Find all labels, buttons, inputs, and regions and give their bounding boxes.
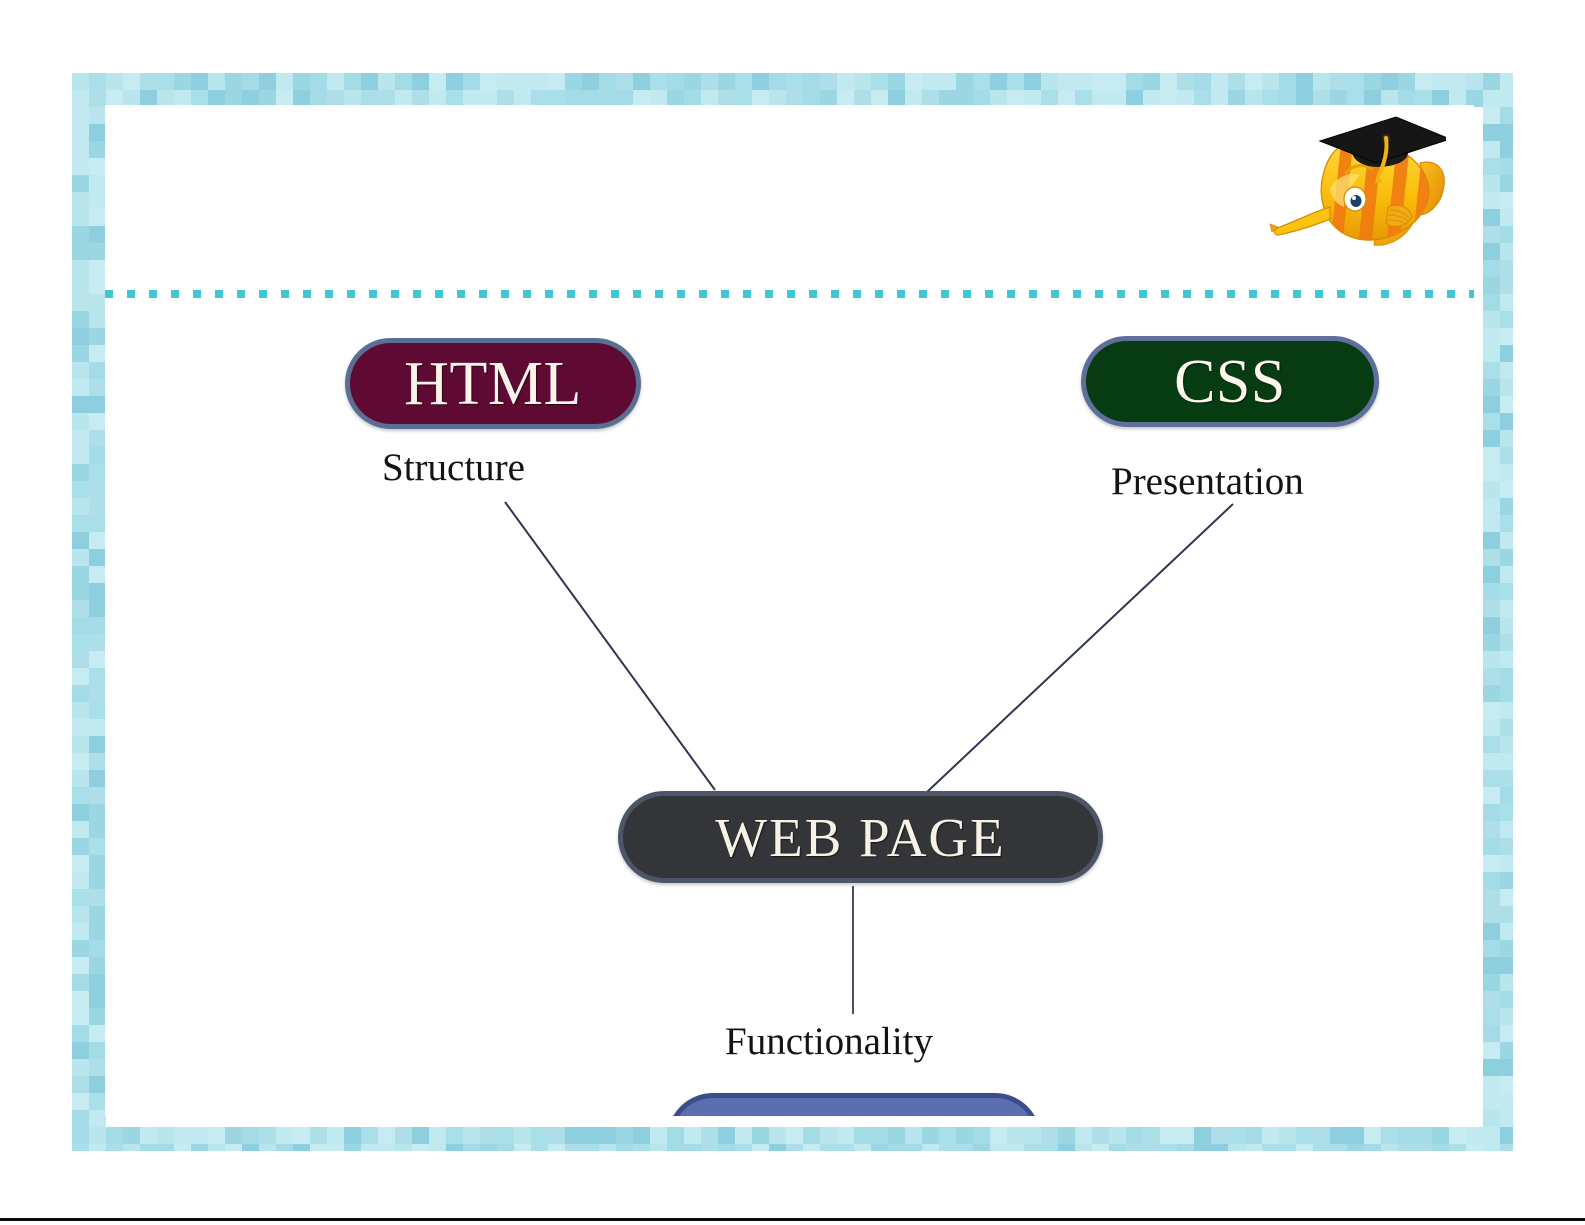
mosaic-tile — [973, 73, 990, 90]
mosaic-tile — [854, 73, 871, 90]
mosaic-tile — [1500, 73, 1513, 90]
mosaic-tile — [1279, 1144, 1296, 1151]
mosaic-tile — [633, 73, 650, 90]
mosaic-tile — [820, 1127, 837, 1144]
mosaic-tile — [1483, 90, 1500, 107]
mosaic-tile — [89, 396, 106, 413]
mosaic-tile — [1262, 1127, 1279, 1144]
mosaic-tile — [72, 736, 89, 753]
mosaic-tile — [1483, 549, 1500, 566]
mosaic-tile — [208, 73, 225, 90]
mosaic-tile — [89, 345, 106, 362]
mosaic-tile — [1483, 651, 1500, 668]
mosaic-tile — [123, 1144, 140, 1151]
mosaic-tile — [72, 1076, 89, 1093]
mosaic-tile — [769, 73, 786, 90]
mosaic-tile — [837, 1144, 854, 1151]
mosaic-tile — [1398, 1127, 1415, 1144]
mosaic-tile — [1500, 770, 1513, 787]
mosaic-tile — [1483, 260, 1500, 277]
mosaic-tile — [1500, 838, 1513, 855]
mosaic-tile — [89, 923, 106, 940]
mosaic-tile — [1500, 532, 1513, 549]
mosaic-tile — [1483, 515, 1500, 532]
mosaic-tile — [803, 1127, 820, 1144]
mosaic-tile — [514, 1144, 531, 1151]
mosaic-tile — [1262, 1144, 1279, 1151]
mosaic-tile — [786, 1127, 803, 1144]
mosaic-tile — [735, 73, 752, 90]
mosaic-tile — [1500, 1144, 1513, 1151]
mosaic-tile — [701, 1127, 718, 1144]
mosaic-tile — [1483, 1144, 1500, 1151]
mosaic-tile — [72, 294, 89, 311]
mosaic-tile — [1143, 73, 1160, 90]
mosaic-tile — [191, 1127, 208, 1144]
mosaic-tile — [89, 889, 106, 906]
mosaic-tile — [1483, 957, 1500, 974]
mosaic-tile — [208, 1144, 225, 1151]
mosaic-tile — [786, 73, 803, 90]
mosaic-tile — [72, 464, 89, 481]
mosaic-tile — [1398, 73, 1415, 90]
mosaic-tile — [1500, 90, 1513, 107]
mosaic-tile — [1483, 294, 1500, 311]
node-css[interactable]: CSS — [1081, 336, 1379, 427]
node-web-page-label: WEB PAGE — [715, 810, 1006, 865]
mosaic-tile — [820, 73, 837, 90]
mosaic-tile — [1194, 73, 1211, 90]
mosaic-tile — [429, 73, 446, 90]
mosaic-tile — [72, 209, 89, 226]
mosaic-tile — [1500, 328, 1513, 345]
mosaic-tile — [1245, 73, 1262, 90]
mosaic-tile — [1483, 685, 1500, 702]
mosaic-tile — [905, 1144, 922, 1151]
mosaic-tile — [1483, 906, 1500, 923]
mosaic-tile — [89, 719, 106, 736]
mosaic-tile — [888, 1127, 905, 1144]
mosaic-tile — [1500, 821, 1513, 838]
mosaic-tile — [582, 1144, 599, 1151]
mosaic-tile — [72, 260, 89, 277]
mosaic-tile — [633, 1127, 650, 1144]
mosaic-tile — [1483, 226, 1500, 243]
mosaic-tile — [752, 73, 769, 90]
mosaic-tile — [242, 73, 259, 90]
mosaic-tile — [1177, 1127, 1194, 1144]
mosaic-tile — [1500, 1110, 1513, 1127]
mosaic-tile — [1483, 481, 1500, 498]
mosaic-tile — [1466, 73, 1483, 90]
mosaic-tile — [565, 1144, 582, 1151]
mosaic-tile — [1500, 226, 1513, 243]
mosaic-tile — [429, 1144, 446, 1151]
mosaic-tile — [276, 1144, 293, 1151]
mosaic-tile — [89, 1076, 106, 1093]
mosaic-tile — [1347, 1144, 1364, 1151]
mosaic-tile — [939, 1144, 956, 1151]
mosaic-tile — [1483, 872, 1500, 889]
mosaic-tile — [89, 549, 106, 566]
mosaic-tile — [735, 1127, 752, 1144]
mosaic-tile — [72, 362, 89, 379]
mosaic-tile — [1483, 396, 1500, 413]
mosaic-tile — [89, 1008, 106, 1025]
mosaic-tile — [1483, 1042, 1500, 1059]
mosaic-tile — [1483, 532, 1500, 549]
mosaic-tile — [72, 1025, 89, 1042]
mosaic-tile — [72, 379, 89, 396]
mosaic-tile — [1364, 73, 1381, 90]
mosaic-tile — [72, 685, 89, 702]
mosaic-tile — [242, 1144, 259, 1151]
mosaic-tile — [922, 1144, 939, 1151]
mosaic-tile — [89, 1144, 106, 1151]
mosaic-tile — [888, 73, 905, 90]
mosaic-tile — [837, 73, 854, 90]
mosaic-tile — [89, 226, 106, 243]
mosaic-tile — [548, 1144, 565, 1151]
mosaic-tile — [1483, 787, 1500, 804]
mosaic-tile — [1177, 1144, 1194, 1151]
mosaic-tile — [89, 192, 106, 209]
mosaic-tile — [89, 1110, 106, 1127]
mosaic-tile — [1449, 73, 1466, 90]
connector-css-to-webpage — [927, 504, 1233, 792]
mosaic-tile — [1041, 73, 1058, 90]
mosaic-tile — [106, 1144, 123, 1151]
mosaic-tile — [72, 668, 89, 685]
mosaic-tile — [72, 770, 89, 787]
mosaic-tile — [174, 73, 191, 90]
mosaic-tile — [1500, 566, 1513, 583]
mosaic-tile — [1330, 73, 1347, 90]
mosaic-tile — [395, 73, 412, 90]
mosaic-tile — [871, 1144, 888, 1151]
mosaic-tile — [89, 600, 106, 617]
mosaic-tile — [1058, 73, 1075, 90]
mosaic-tile — [1483, 1008, 1500, 1025]
mosaic-tile — [786, 1144, 803, 1151]
mosaic-tile — [1160, 1127, 1177, 1144]
mosaic-tile — [72, 719, 89, 736]
mosaic-tile — [191, 1144, 208, 1151]
mosaic-tile — [89, 668, 106, 685]
mosaic-tile — [752, 1127, 769, 1144]
mosaic-tile — [1500, 889, 1513, 906]
mosaic-tile — [616, 1127, 633, 1144]
mosaic-tile — [72, 855, 89, 872]
mosaic-tile — [72, 311, 89, 328]
mosaic-tile — [463, 1144, 480, 1151]
mosaic-tile — [72, 600, 89, 617]
mosaic-tile — [89, 413, 106, 430]
mosaic-tile — [1500, 1093, 1513, 1110]
mosaic-tile — [1483, 362, 1500, 379]
mosaic-tile — [225, 73, 242, 90]
mosaic-tile — [1228, 1127, 1245, 1144]
mosaic-tile — [1296, 1144, 1313, 1151]
mosaic-tile — [89, 464, 106, 481]
mosaic-tile — [89, 379, 106, 396]
mosaic-tile — [123, 1127, 140, 1144]
mosaic-tile — [871, 1127, 888, 1144]
mosaic-tile — [1483, 702, 1500, 719]
mosaic-tile — [1211, 73, 1228, 90]
mosaic-tile — [1024, 73, 1041, 90]
mosaic-tile — [1500, 600, 1513, 617]
mosaic-tile — [89, 906, 106, 923]
node-web-page[interactable]: WEB PAGE — [618, 791, 1103, 883]
mosaic-tile — [310, 1144, 327, 1151]
mosaic-tile — [1483, 430, 1500, 447]
mosaic-tile — [684, 1144, 701, 1151]
mosaic-tile — [854, 1144, 871, 1151]
mosaic-tile — [72, 226, 89, 243]
mosaic-tile — [1500, 872, 1513, 889]
mosaic-tile — [89, 107, 106, 124]
mosaic-tile — [259, 73, 276, 90]
mosaic-tile — [1483, 124, 1500, 141]
mosaic-tile — [378, 1144, 395, 1151]
mosaic-tile — [1449, 1127, 1466, 1144]
mosaic-tile — [1500, 175, 1513, 192]
mosaic-tile — [89, 1042, 106, 1059]
mosaic-tile — [123, 73, 140, 90]
mosaic-tile — [72, 243, 89, 260]
mosaic-tile — [1483, 668, 1500, 685]
mosaic-tile — [1483, 600, 1500, 617]
caption-functionality: Functionality — [725, 1019, 933, 1064]
mosaic-tile — [310, 73, 327, 90]
mosaic-tile — [1483, 345, 1500, 362]
mosaic-tile — [1415, 1127, 1432, 1144]
mosaic-tile — [72, 753, 89, 770]
mosaic-tile — [72, 1127, 89, 1144]
mosaic-tile — [72, 345, 89, 362]
mosaic-tile — [871, 73, 888, 90]
mosaic-tile — [1500, 413, 1513, 430]
mosaic-tile — [1500, 940, 1513, 957]
mosaic-tile — [1177, 73, 1194, 90]
mosaic-tile — [1500, 1127, 1513, 1144]
mosaic-tile — [446, 1127, 463, 1144]
mosaic-tile — [1500, 141, 1513, 158]
mosaic-tile — [667, 73, 684, 90]
mosaic-tile — [89, 260, 106, 277]
mosaic-tile — [1500, 1076, 1513, 1093]
mosaic-tile — [1483, 617, 1500, 634]
mosaic-tile — [1007, 73, 1024, 90]
mosaic-tile — [72, 396, 89, 413]
mosaic-tile — [1483, 328, 1500, 345]
mosaic-tile — [1500, 702, 1513, 719]
mosaic-tile — [72, 872, 89, 889]
mosaic-tile — [1483, 379, 1500, 396]
mosaic-tile — [1500, 923, 1513, 940]
mosaic-tile — [72, 804, 89, 821]
mosaic-tile — [174, 1144, 191, 1151]
mosaic-tile — [72, 481, 89, 498]
mosaic-tile — [89, 855, 106, 872]
mosaic-tile — [1500, 719, 1513, 736]
mosaic-tile — [1041, 1144, 1058, 1151]
mosaic-tile — [1092, 1127, 1109, 1144]
mosaic-tile — [1500, 243, 1513, 260]
mosaic-tile — [225, 1144, 242, 1151]
mosaic-tile — [1228, 73, 1245, 90]
mosaic-tile — [89, 294, 106, 311]
mosaic-tile — [140, 1144, 157, 1151]
mosaic-tile — [72, 940, 89, 957]
mosaic-tile — [89, 736, 106, 753]
mosaic-tile — [140, 73, 157, 90]
mosaic-tile — [89, 447, 106, 464]
mosaic-tile — [463, 73, 480, 90]
mosaic-tile — [1500, 396, 1513, 413]
mosaic-tile — [684, 73, 701, 90]
mosaic-tile — [89, 838, 106, 855]
mosaic-tile — [497, 1127, 514, 1144]
mosaic-tile — [89, 1127, 106, 1144]
mosaic-tile — [225, 1127, 242, 1144]
bottom-rule — [0, 1218, 1585, 1221]
mosaic-tile — [72, 175, 89, 192]
mosaic-tile — [1381, 73, 1398, 90]
mosaic-tile — [361, 73, 378, 90]
mosaic-tile — [1347, 73, 1364, 90]
mosaic-tile — [922, 1127, 939, 1144]
mosaic-tile — [735, 1144, 752, 1151]
mosaic-tile — [89, 209, 106, 226]
mosaic-tile — [1483, 634, 1500, 651]
mosaic-tile — [1415, 73, 1432, 90]
mosaic-tile — [72, 549, 89, 566]
node-html[interactable]: HTML — [345, 338, 641, 429]
mosaic-tile — [1483, 158, 1500, 175]
mosaic-tile — [1500, 277, 1513, 294]
mosaic-tile — [89, 243, 106, 260]
mosaic-tile — [1483, 73, 1500, 90]
mosaic-tile — [803, 73, 820, 90]
mosaic-tile — [344, 73, 361, 90]
mosaic-tile — [72, 90, 89, 107]
mosaic-tile — [1483, 923, 1500, 940]
mosaic-tile — [531, 1127, 548, 1144]
mosaic-tile — [72, 192, 89, 209]
mosaic-tile — [89, 821, 106, 838]
mosaic-tile — [1483, 804, 1500, 821]
mosaic-tile — [72, 651, 89, 668]
mosaic-tile — [72, 821, 89, 838]
node-javascript-label: JavaScript — [737, 1112, 971, 1117]
mosaic-tile — [89, 974, 106, 991]
mosaic-tile — [1194, 1127, 1211, 1144]
mosaic-tile — [1058, 1127, 1075, 1144]
mosaic-tile — [1500, 209, 1513, 226]
mosaic-tile — [412, 1144, 429, 1151]
mosaic-tile — [1483, 1025, 1500, 1042]
mosaic-tile — [565, 1127, 582, 1144]
mosaic-tile — [1500, 362, 1513, 379]
mosaic-tile — [1483, 498, 1500, 515]
mosaic-tile — [1500, 549, 1513, 566]
mosaic-tile — [1500, 855, 1513, 872]
mosaic-tile — [89, 328, 106, 345]
mosaic-tile — [1500, 107, 1513, 124]
mosaic-tile — [89, 430, 106, 447]
mosaic-tile — [905, 73, 922, 90]
slide-frame: HTML Structure CSS Presentation WEB PAGE… — [72, 73, 1513, 1151]
mosaic-tile — [480, 1127, 497, 1144]
mosaic-tile — [72, 532, 89, 549]
mosaic-tile — [1483, 838, 1500, 855]
mosaic-tile — [684, 1127, 701, 1144]
graduation-fish-mascot-icon — [1260, 111, 1446, 257]
mosaic-tile — [1483, 770, 1500, 787]
node-javascript[interactable]: JavaScript — [667, 1093, 1041, 1116]
mosaic-tile — [89, 1093, 106, 1110]
mosaic-tile — [208, 1127, 225, 1144]
mosaic-tile — [718, 73, 735, 90]
mosaic-tile — [89, 1059, 106, 1076]
mosaic-tile — [1092, 73, 1109, 90]
mosaic-tile — [89, 515, 106, 532]
mosaic-tile — [1483, 141, 1500, 158]
mosaic-tile — [1500, 634, 1513, 651]
mosaic-tile — [1500, 345, 1513, 362]
mosaic-tile — [1313, 73, 1330, 90]
mosaic-tile — [1075, 73, 1092, 90]
mosaic-tile — [327, 1127, 344, 1144]
mosaic-tile — [1432, 1144, 1449, 1151]
mosaic-tile — [1262, 73, 1279, 90]
slide-canvas: HTML Structure CSS Presentation WEB PAGE… — [105, 105, 1474, 1116]
mosaic-tile — [1007, 1127, 1024, 1144]
mosaic-tile — [259, 1127, 276, 1144]
mosaic-tile — [548, 73, 565, 90]
mosaic-tile — [72, 1042, 89, 1059]
mosaic-tile — [497, 73, 514, 90]
mosaic-tile — [1296, 1127, 1313, 1144]
mosaic-tile — [72, 141, 89, 158]
mosaic-tile — [1483, 1127, 1500, 1144]
mosaic-tile — [480, 1144, 497, 1151]
mosaic-tile — [191, 73, 208, 90]
mosaic-tile — [1500, 787, 1513, 804]
mosaic-tile — [72, 158, 89, 175]
mosaic-tile — [1245, 1144, 1262, 1151]
mosaic-tile — [1483, 583, 1500, 600]
mosaic-tile — [1483, 566, 1500, 583]
mosaic-tile — [89, 634, 106, 651]
mosaic-tile — [990, 73, 1007, 90]
mosaic-tile — [89, 481, 106, 498]
mosaic-tile — [89, 685, 106, 702]
mosaic-tile — [1483, 192, 1500, 209]
mosaic-tile — [1381, 1144, 1398, 1151]
mosaic-tile — [1024, 1144, 1041, 1151]
mosaic-tile — [701, 1144, 718, 1151]
mosaic-tile — [1500, 1008, 1513, 1025]
mosaic-tile — [72, 566, 89, 583]
mosaic-tile — [1500, 430, 1513, 447]
mosaic-tile — [327, 1144, 344, 1151]
mosaic-tile — [293, 1127, 310, 1144]
mosaic-tile — [1313, 1144, 1330, 1151]
mosaic-tile — [106, 73, 123, 90]
